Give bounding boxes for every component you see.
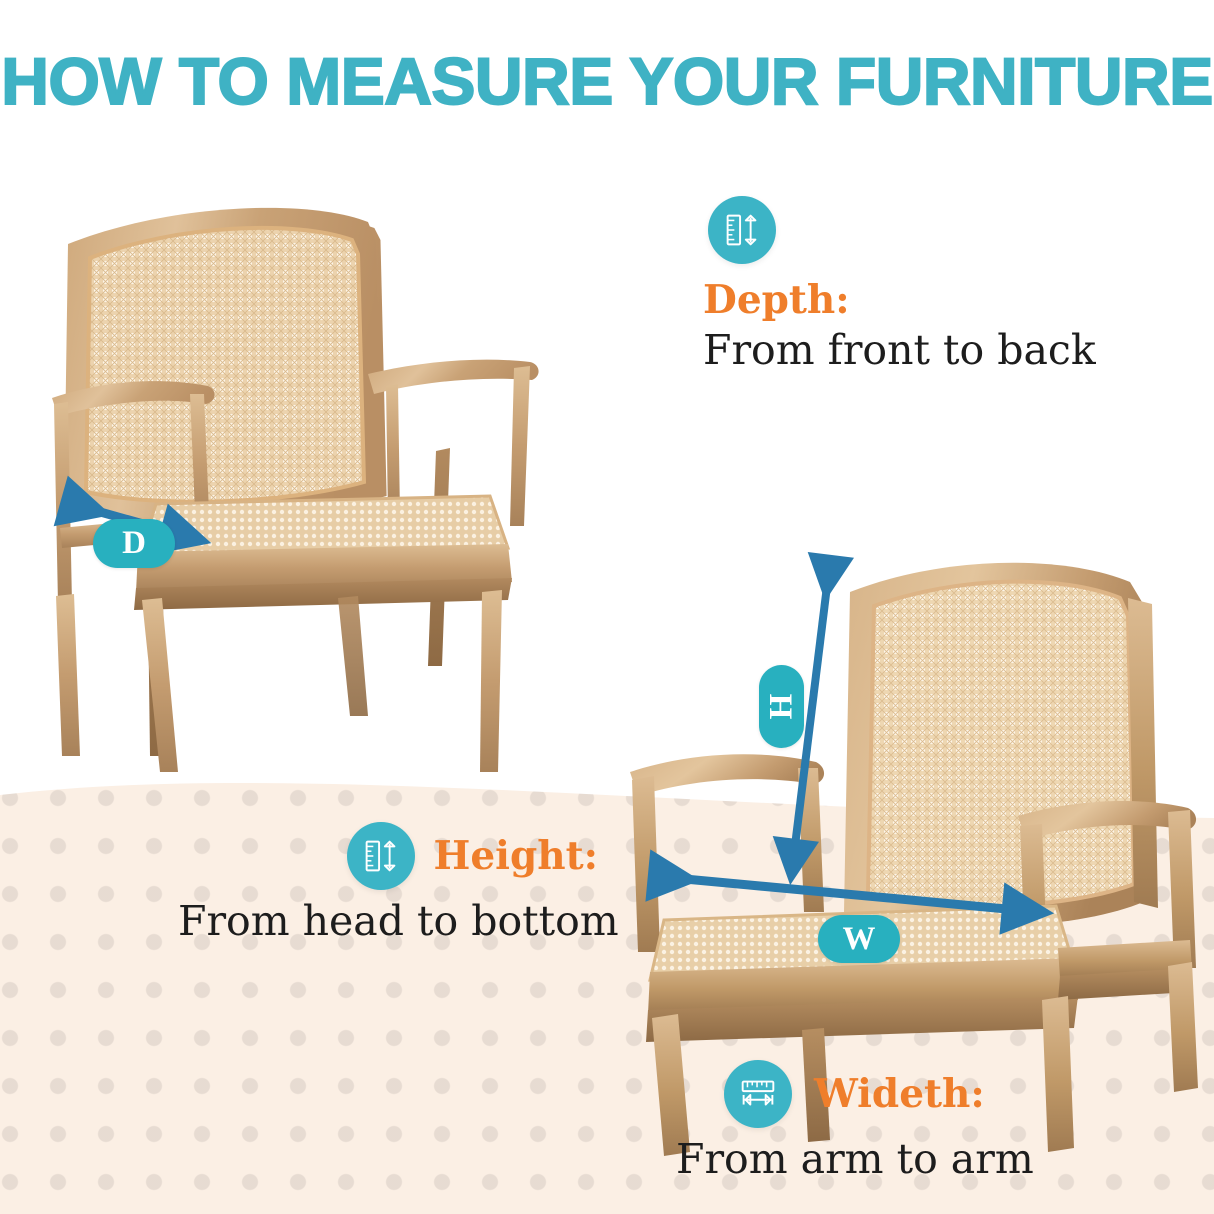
height-colon: : bbox=[584, 833, 598, 879]
depth-colon: : bbox=[835, 277, 849, 323]
depth-description: From front to back bbox=[703, 329, 1096, 372]
height-description: From head to bottom bbox=[178, 900, 598, 943]
infographic-canvas: HOW TO MEASURE YOUR FURNITURE bbox=[0, 0, 1214, 1214]
wideth-ruler-icon bbox=[724, 1060, 792, 1128]
depth-ruler-icon bbox=[708, 196, 776, 264]
width-badge: W bbox=[818, 915, 900, 963]
wideth-keyword: Wideth bbox=[814, 1071, 970, 1117]
depth-badge-label: D bbox=[122, 525, 146, 562]
wideth-keyword-row: Wideth: bbox=[814, 1075, 985, 1114]
wideth-info-block: Wideth: From arm to arm bbox=[676, 1060, 1096, 1181]
depth-info-block: Depth: From front to back bbox=[703, 196, 1096, 372]
height-badge: H bbox=[759, 665, 804, 748]
depth-keyword-row: Depth: bbox=[703, 281, 1096, 320]
page-title: HOW TO MEASURE YOUR FURNITURE bbox=[0, 48, 1214, 114]
height-info-block: Height: From head to bottom bbox=[178, 822, 598, 943]
wideth-colon: : bbox=[970, 1071, 984, 1117]
wideth-description: From arm to arm bbox=[676, 1138, 1096, 1181]
front-view-chair bbox=[38, 196, 558, 772]
width-badge-label: W bbox=[843, 921, 876, 958]
depth-keyword: Depth bbox=[703, 277, 835, 323]
height-badge-label: H bbox=[763, 694, 800, 720]
depth-badge: D bbox=[93, 519, 175, 568]
height-ruler-icon bbox=[347, 822, 415, 890]
height-keyword-row: Height: bbox=[433, 837, 598, 876]
height-keyword: Height bbox=[433, 833, 583, 879]
